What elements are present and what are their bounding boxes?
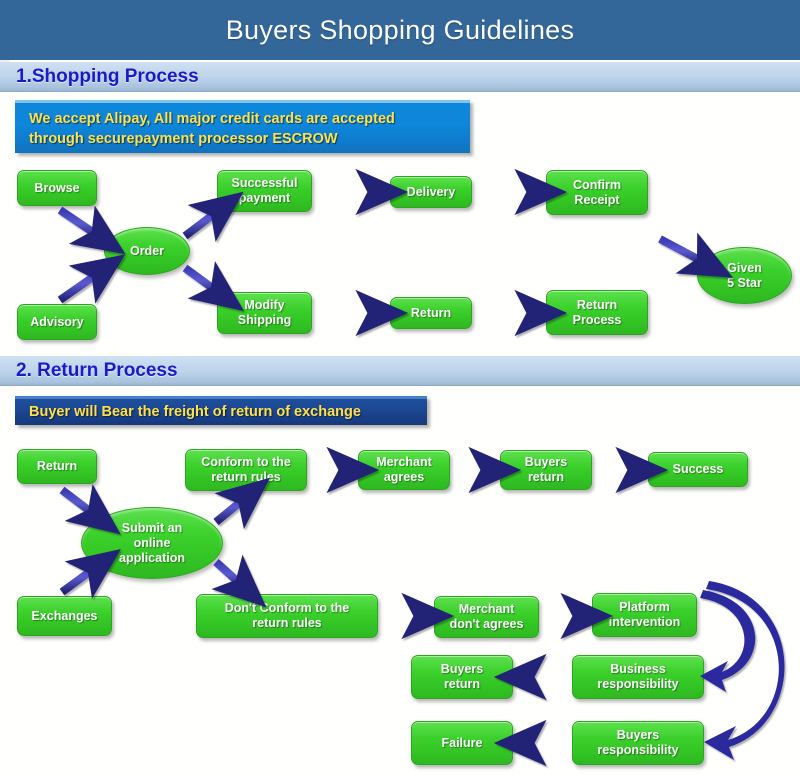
- node-submit-label-1: Submit an: [122, 521, 182, 536]
- node-buyers-return-top-label-1: Buyers: [525, 455, 567, 470]
- node-merchant-agrees-label-2: agrees: [384, 470, 424, 485]
- node-failure-label: Failure: [442, 736, 483, 751]
- node-dont-conform-label-2: return rules: [252, 616, 321, 631]
- node-confirm-receipt-label-2: Receipt: [574, 193, 619, 208]
- node-successful-payment-label-2: payment: [239, 191, 290, 206]
- node-modify-shipping[interactable]: Modify Shipping: [217, 292, 312, 334]
- page-header: Buyers Shopping Guidelines: [0, 0, 800, 60]
- page-title: Buyers Shopping Guidelines: [226, 15, 575, 46]
- node-successful-payment-label-1: Successful: [231, 176, 297, 191]
- payment-notice-line-2: through securepayment processor ESCROW: [29, 129, 458, 149]
- node-submit-label-2: online: [134, 536, 171, 551]
- node-advisory[interactable]: Advisory: [17, 304, 97, 340]
- section-header-shopping-process: 1.Shopping Process: [0, 62, 800, 92]
- node-return-2[interactable]: Return: [17, 449, 97, 484]
- node-return-shopping[interactable]: Return: [390, 297, 472, 329]
- node-buyers-return-top[interactable]: Buyers return: [500, 450, 592, 490]
- section-header-return-process: 2. Return Process: [0, 356, 800, 386]
- node-successful-payment[interactable]: Successful payment: [217, 170, 312, 212]
- node-business-responsibility-label-1: Business: [610, 662, 666, 677]
- node-buyers-responsibility-label-2: responsibility: [597, 743, 678, 758]
- section-label-return-process: 2. Return Process: [16, 360, 178, 382]
- guidelines-page: Buyers Shopping Guidelines 1.Shopping Pr…: [0, 0, 800, 775]
- node-merchant-agrees-label-1: Merchant: [376, 455, 432, 470]
- node-submit-label-3: application: [119, 551, 185, 566]
- section-label-shopping-process: 1.Shopping Process: [16, 66, 199, 88]
- node-buyers-return-mid[interactable]: Buyers return: [411, 655, 513, 699]
- node-business-responsibility[interactable]: Business responsibility: [572, 655, 704, 699]
- node-merchant-agrees[interactable]: Merchant agrees: [358, 450, 450, 490]
- node-merchant-dont-agrees-label-1: Merchant: [459, 602, 515, 617]
- node-conform-label-1: Conform to the: [201, 455, 291, 470]
- freight-notice-line-1: Buyer will Bear the freight of return of…: [29, 402, 415, 422]
- node-browse-label: Browse: [34, 181, 79, 196]
- node-buyers-return-top-label-2: return: [528, 470, 564, 485]
- node-dont-conform-label-1: Don't Conform to the: [225, 601, 349, 616]
- node-conform-to-return-rules[interactable]: Conform to the return rules: [185, 449, 307, 491]
- node-delivery[interactable]: Delivery: [390, 176, 472, 208]
- node-buyers-responsibility[interactable]: Buyers responsibility: [572, 721, 704, 765]
- node-return-process-label-1: Return: [577, 298, 617, 313]
- node-platform-intervention[interactable]: Platform intervention: [592, 593, 697, 637]
- node-return-shopping-label: Return: [411, 306, 451, 321]
- node-success-label: Success: [673, 462, 724, 477]
- node-exchanges-label: Exchanges: [31, 609, 97, 624]
- node-order[interactable]: Order: [104, 227, 190, 275]
- node-confirm-receipt-label-1: Confirm: [573, 178, 621, 193]
- node-confirm-receipt[interactable]: Confirm Receipt: [546, 170, 648, 215]
- node-merchant-dont-agrees-label-2: don't agrees: [450, 617, 524, 632]
- payment-notice-line-1: We accept Alipay, All major credit cards…: [29, 109, 458, 129]
- freight-notice-banner: Buyer will Bear the freight of return of…: [15, 396, 427, 425]
- node-success[interactable]: Success: [648, 452, 748, 487]
- node-exchanges[interactable]: Exchanges: [17, 596, 112, 636]
- node-return-process[interactable]: Return Process: [546, 290, 648, 335]
- node-buyers-return-mid-label-1: Buyers: [441, 662, 483, 677]
- node-order-label: Order: [130, 244, 164, 259]
- node-return-2-label: Return: [37, 459, 77, 474]
- node-given-5-star-label-2: 5 Star: [727, 276, 762, 291]
- node-conform-label-2: return rules: [211, 470, 280, 485]
- node-dont-conform-to-return-rules[interactable]: Don't Conform to the return rules: [196, 594, 378, 638]
- return-process-flow: [0, 386, 800, 775]
- node-advisory-label: Advisory: [30, 315, 84, 330]
- node-submit-online-application[interactable]: Submit an online application: [81, 507, 223, 579]
- node-buyers-responsibility-label-1: Buyers: [617, 728, 659, 743]
- node-browse[interactable]: Browse: [17, 170, 97, 206]
- node-return-process-label-2: Process: [573, 313, 622, 328]
- node-given-5-star[interactable]: Given 5 Star: [697, 247, 792, 304]
- node-failure[interactable]: Failure: [411, 721, 513, 765]
- node-delivery-label: Delivery: [407, 185, 456, 200]
- node-modify-shipping-label-2: Shipping: [238, 313, 291, 328]
- node-merchant-dont-agrees[interactable]: Merchant don't agrees: [434, 596, 539, 638]
- node-platform-intervention-label-2: intervention: [609, 615, 681, 630]
- node-given-5-star-label-1: Given: [727, 261, 762, 276]
- node-platform-intervention-label-1: Platform: [619, 600, 670, 615]
- node-modify-shipping-label-1: Modify: [244, 298, 284, 313]
- node-buyers-return-mid-label-2: return: [444, 677, 480, 692]
- payment-notice-banner: We accept Alipay, All major credit cards…: [15, 100, 470, 153]
- node-business-responsibility-label-2: responsibility: [597, 677, 678, 692]
